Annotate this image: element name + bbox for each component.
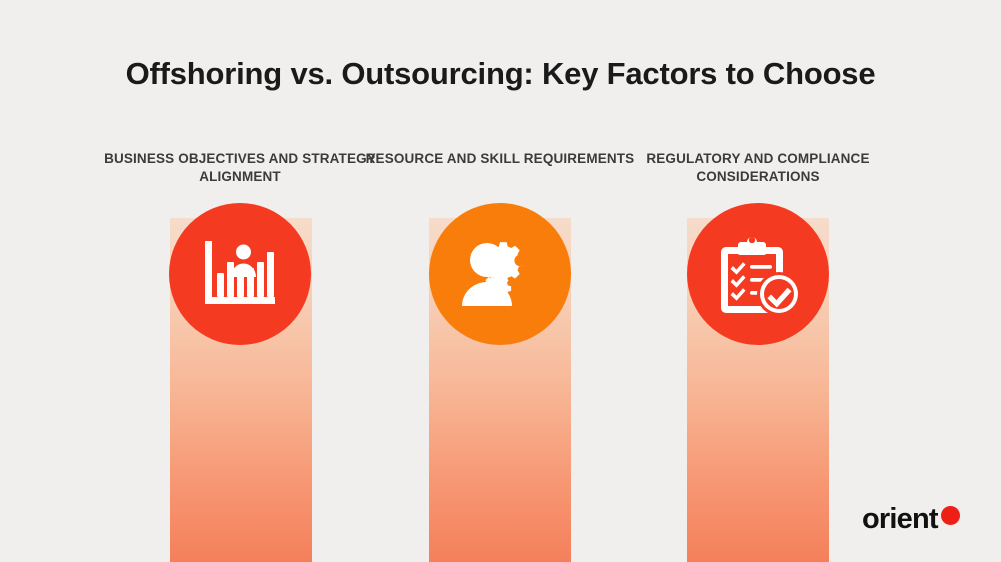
person-gears-icon (459, 238, 541, 310)
factor-heading-3: REGULATORY AND COMPLIANCE CONSIDERATIONS (608, 150, 908, 186)
factor-icon-circle-3 (687, 203, 829, 345)
factor-heading-2: RESOURCE AND SKILL REQUIREMENTS (350, 150, 650, 168)
factor-icon-circle-1 (169, 203, 311, 345)
factor-heading-1: BUSINESS OBJECTIVES AND STRATEGY ALIGNME… (90, 150, 390, 186)
factor-item-2: RESOURCE AND SKILL REQUIREMENTS (350, 150, 650, 168)
factor-item-1: BUSINESS OBJECTIVES AND STRATEGY ALIGNME… (90, 150, 390, 186)
logo-dot-icon (941, 506, 960, 525)
factor-item-3: REGULATORY AND COMPLIANCE CONSIDERATIONS (608, 150, 908, 186)
factor-icon-circle-2 (429, 203, 571, 345)
brand-logo: orient (862, 505, 960, 534)
logo-text: orient (862, 505, 938, 534)
infographic-slide: Offshoring vs. Outsourcing: Key Factors … (0, 0, 1001, 562)
bar-chart-person-icon (201, 239, 279, 309)
clipboard-checklist-check-icon (716, 233, 800, 315)
